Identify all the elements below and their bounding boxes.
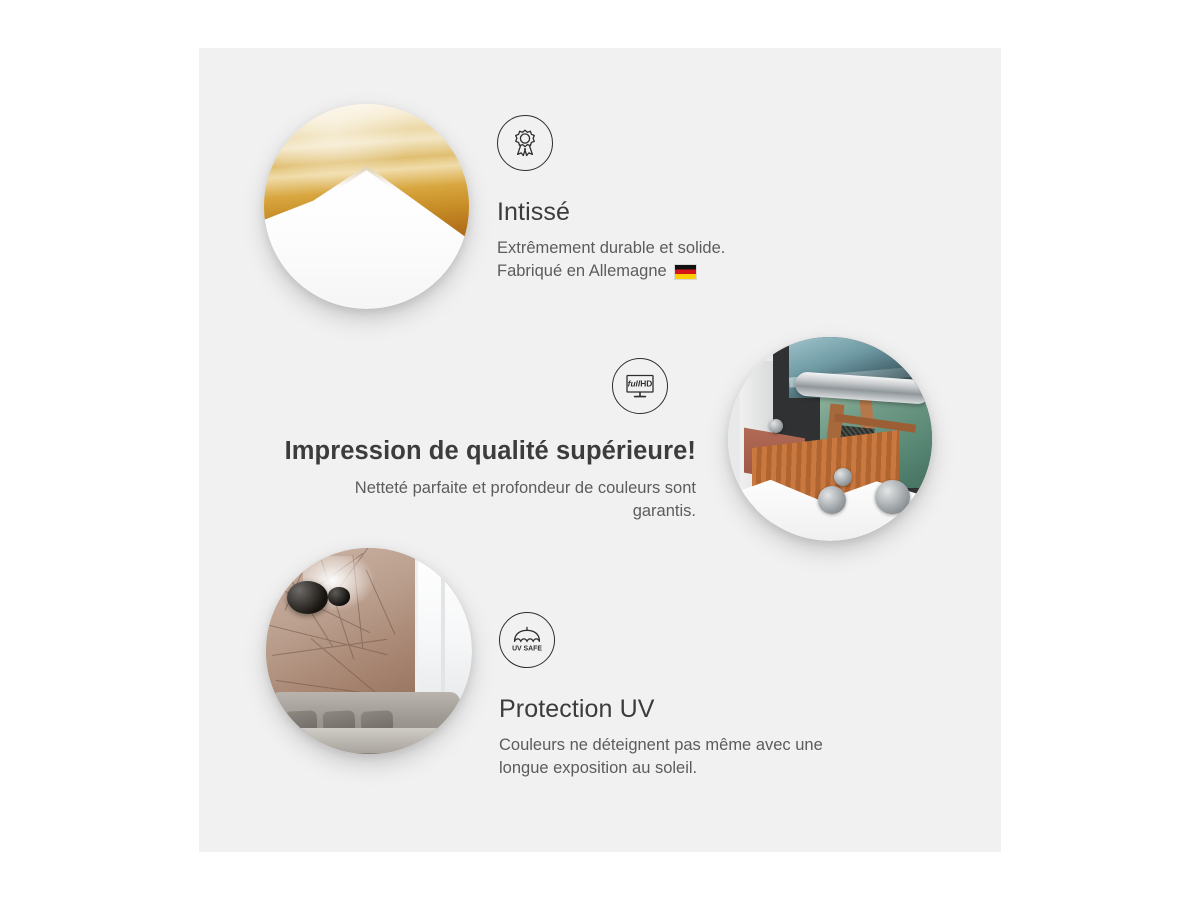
feature-body-line-2-text: Fabriqué en Allemagne bbox=[497, 260, 667, 283]
fullhd-monitor-icon: fullHD bbox=[612, 358, 668, 414]
feature-title: Protection UV bbox=[499, 694, 919, 724]
award-rosette-icon bbox=[497, 115, 553, 171]
feature-body-line-2: garantis. bbox=[246, 500, 696, 523]
svg-text:fullHD: fullHD bbox=[628, 379, 653, 389]
feature-impression: fullHD Impression de qualité supérieure!… bbox=[246, 358, 696, 523]
infographic-canvas: Intissé Extrêmement durable et solide. F… bbox=[0, 0, 1200, 900]
interior-room-mural-photo bbox=[266, 548, 472, 754]
feature-body-line-1: Extrêmement durable et solide. bbox=[497, 237, 897, 260]
feature-body-line-2: Fabriqué en Allemagne bbox=[497, 260, 897, 283]
german-flag bbox=[674, 264, 697, 280]
printing-machine-photo bbox=[728, 337, 932, 541]
feature-intisse: Intissé Extrêmement durable et solide. F… bbox=[497, 115, 897, 284]
feature-body-line-1: Couleurs ne déteignent pas même avec une bbox=[499, 734, 919, 757]
feature-title: Intissé bbox=[497, 197, 897, 227]
feature-body-line-1: Netteté parfaite et profondeur de couleu… bbox=[246, 477, 696, 500]
wallpaper-roll-curled-corner-photo bbox=[264, 104, 469, 309]
feature-protection-uv: UV SAFE Protection UV Couleurs ne déteig… bbox=[499, 612, 919, 781]
uv-safe-label: UV SAFE bbox=[512, 645, 542, 652]
feature-title: Impression de qualité supérieure! bbox=[246, 436, 696, 467]
feature-body-line-2: longue exposition au soleil. bbox=[499, 757, 919, 780]
uv-safe-umbrella-icon: UV SAFE bbox=[499, 612, 555, 668]
